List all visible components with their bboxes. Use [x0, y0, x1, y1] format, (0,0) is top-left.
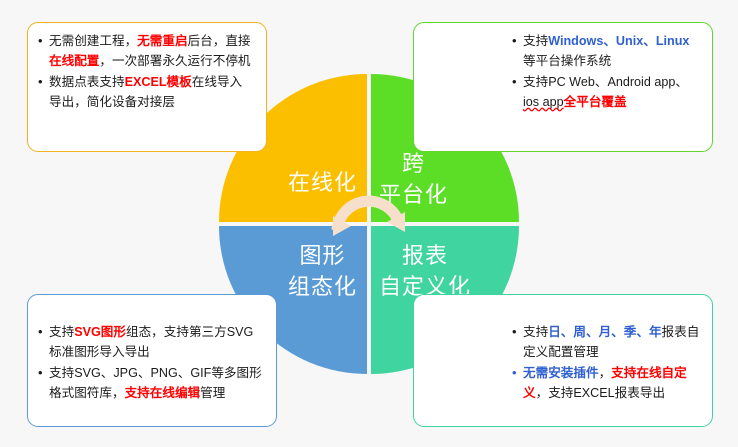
- callout-top-left-list: 无需创建工程，无需重启后台，直接在线配置，一次部署永久运行不停机 数据点表支持E…: [38, 32, 254, 112]
- list-item: 支持SVG、JPG、PNG、GIF等多图形格式图符库，支持在线编辑管理: [38, 364, 264, 403]
- list-item: 支持SVG图形组态，支持第三方SVG标准图形导入导出: [38, 323, 264, 362]
- text-run: 管理: [200, 386, 225, 400]
- callout-bottom-left: 支持SVG图形组态，支持第三方SVG标准图形导入导出 支持SVG、JPG、PNG…: [27, 294, 277, 427]
- text-run: Windows、Unix、Linux: [548, 34, 689, 48]
- list-item: 数据点表支持EXCEL模板在线导入导出，简化设备对接层: [38, 73, 254, 112]
- list-item: 无需创建工程，无需重启后台，直接在线配置，一次部署永久运行不停机: [38, 32, 254, 71]
- text-run: ，支持EXCEL报表导出: [536, 386, 665, 400]
- callout-bottom-left-list: 支持SVG图形组态，支持第三方SVG标准图形导入导出 支持SVG、JPG、PNG…: [38, 323, 264, 403]
- text-run: 无需创建工程，: [49, 34, 137, 48]
- callout-top-right-list: 支持Windows、Unix、Linux等平台操作系统 支持PC Web、And…: [512, 32, 700, 112]
- text-run: 等平台操作系统: [523, 54, 611, 68]
- text-run: ，: [599, 366, 612, 380]
- text-run: 后台，直接: [188, 34, 251, 48]
- text-run: 数据点表支持: [49, 75, 125, 89]
- list-item: 支持日、周、月、季、年报表自定义配置管理: [512, 323, 700, 362]
- wheel-quadrant-report-label: 报表 自定义化: [379, 240, 471, 302]
- list-item: 支持PC Web、Android app、ios app全平台覆盖: [512, 73, 700, 112]
- wheel-quadrant-online-label: 在线化: [288, 167, 357, 198]
- list-item: 支持Windows、Unix、Linux等平台操作系统: [512, 32, 700, 71]
- text-run: 全平台覆盖: [564, 95, 627, 109]
- wheel-quadrant-cross-platform-label: 跨 平台化: [379, 148, 448, 210]
- text-run: 在线配置: [49, 54, 99, 68]
- wheel-quadrant-graphics-label: 图形 组态化: [288, 240, 357, 302]
- text-run: 支持: [523, 34, 548, 48]
- text-run: 支持在线编辑: [125, 386, 201, 400]
- callout-top-left: 无需创建工程，无需重启后台，直接在线配置，一次部署永久运行不停机 数据点表支持E…: [27, 22, 267, 152]
- text-run: SVG图形: [74, 325, 126, 339]
- text-run: 支持PC Web、Android app、: [523, 75, 688, 89]
- callout-bottom-right-list: 支持日、周、月、季、年报表自定义配置管理 无需安装插件，支持在线自定义，支持EX…: [512, 323, 700, 403]
- text-run: 支持: [49, 325, 74, 339]
- text-run: 日、周、月、季、年: [548, 325, 661, 339]
- callout-top-right: 支持Windows、Unix、Linux等平台操作系统 支持PC Web、And…: [413, 22, 713, 152]
- text-run: EXCEL模板: [125, 75, 192, 89]
- list-item: 无需安装插件，支持在线自定义，支持EXCEL报表导出: [512, 364, 700, 403]
- text-run: ios app: [523, 95, 564, 109]
- callout-bottom-right: 支持日、周、月、季、年报表自定义配置管理 无需安装插件，支持在线自定义，支持EX…: [413, 294, 713, 427]
- text-run: 支持: [523, 325, 548, 339]
- text-run: ，一次部署永久运行不停机: [99, 54, 250, 68]
- text-run: 无需重启: [137, 34, 187, 48]
- text-run: 无需安装插件: [523, 366, 599, 380]
